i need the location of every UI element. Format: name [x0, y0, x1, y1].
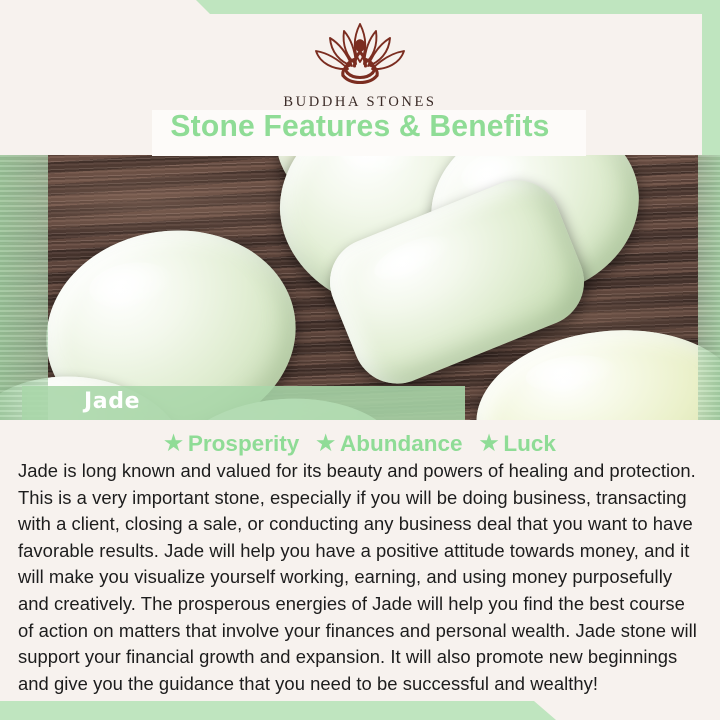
keyword-item-1: ★Abundance	[316, 431, 462, 457]
stone-name: Jade	[84, 389, 140, 414]
keyword-list: ★Prosperity★Abundance★Luck	[0, 431, 720, 457]
stone-photo	[0, 155, 720, 420]
keyword-item-2: ★Luck	[480, 431, 556, 457]
keyword-label: Prosperity	[188, 431, 299, 456]
star-icon: ★	[164, 431, 183, 456]
keyword-item-0: ★Prosperity	[164, 431, 299, 457]
stone-description: Jade is long known and valued for its be…	[18, 458, 704, 697]
keyword-label: Luck	[503, 431, 556, 456]
keyword-label: Abundance	[340, 431, 463, 456]
infographic-page: BUDDHA STONES Stone Features & Benefits …	[0, 0, 720, 720]
photo-left-green-strip	[0, 155, 48, 420]
page-title: Stone Features & Benefits	[11, 108, 709, 144]
bottom-green-accent-bar	[0, 701, 556, 720]
star-icon: ★	[480, 431, 499, 456]
photo-right-green-strip	[698, 155, 720, 420]
star-icon: ★	[316, 431, 335, 456]
brand-logo: BUDDHA STONES	[0, 18, 720, 111]
lotus-meditation-icon	[285, 18, 435, 90]
